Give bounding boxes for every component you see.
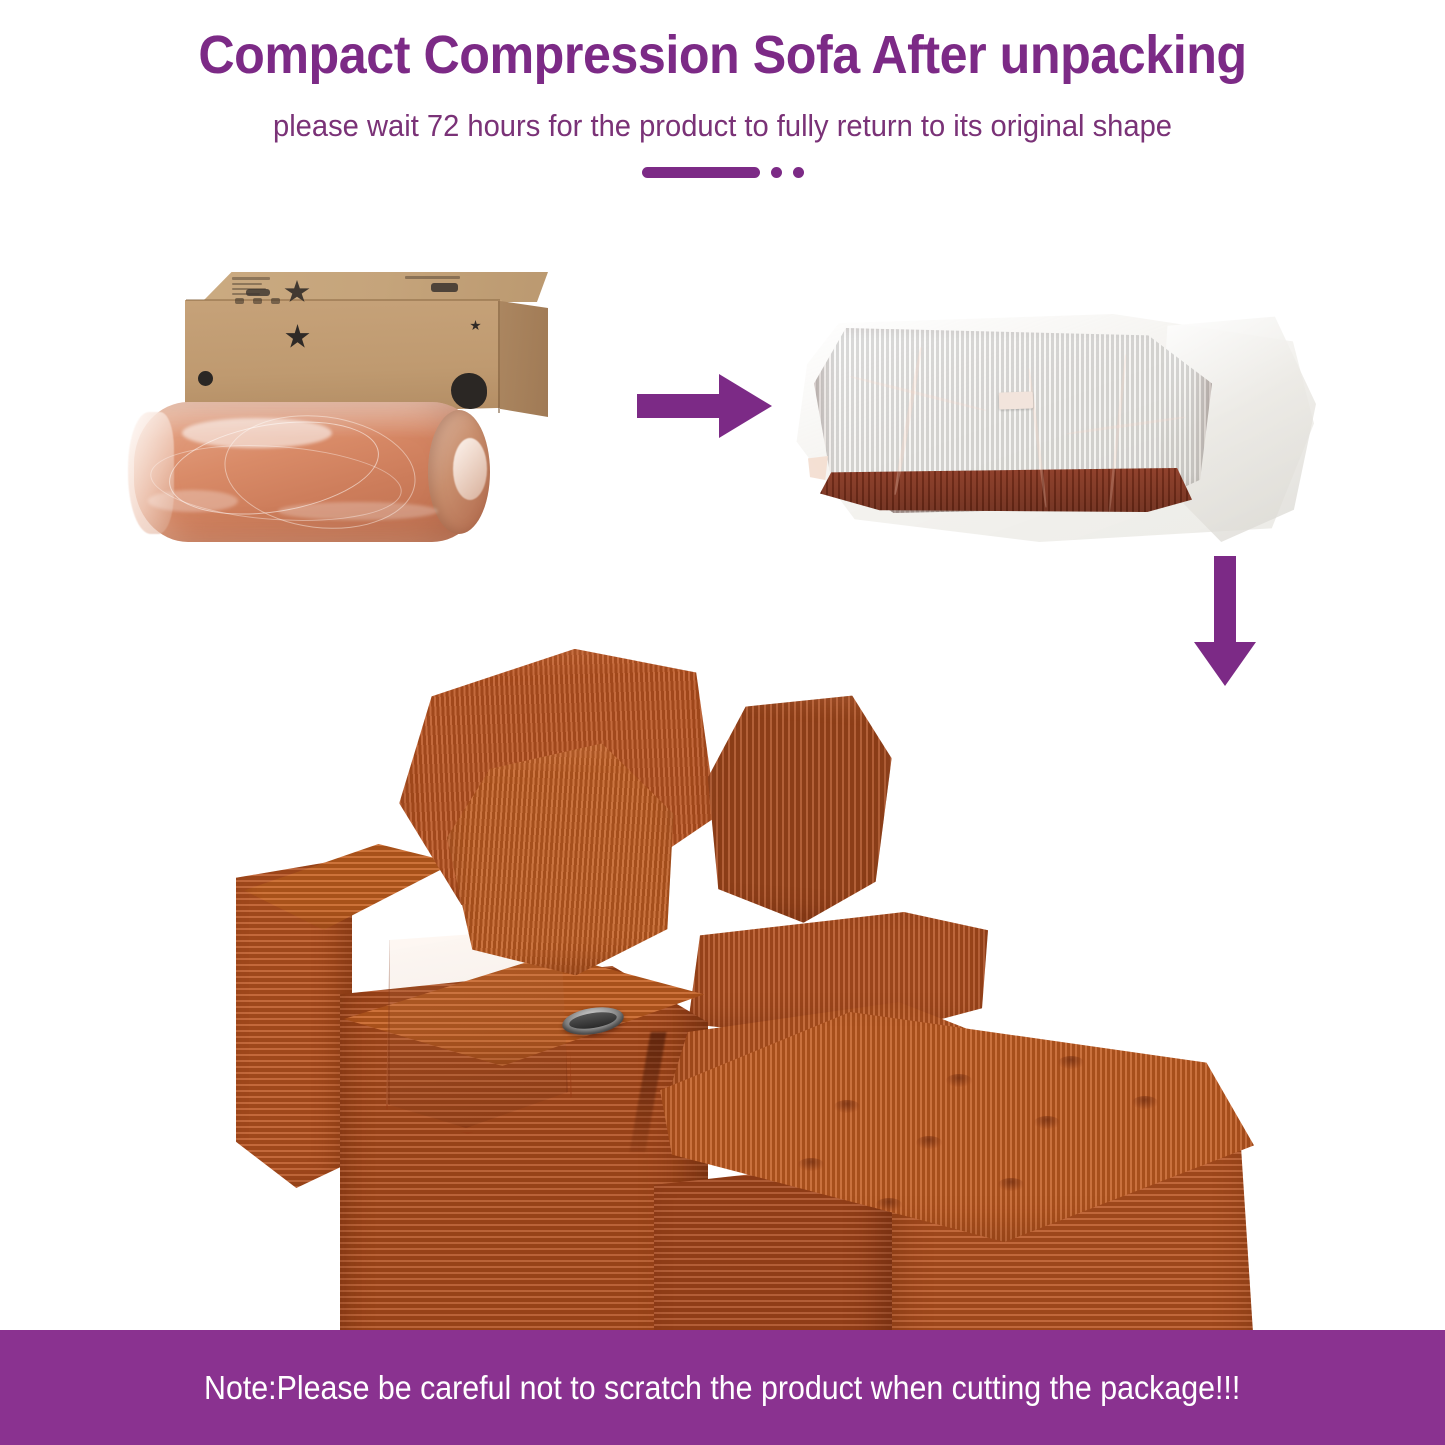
pack-corner-tag (808, 456, 828, 480)
carton-symbol-icon (253, 298, 262, 304)
carton-slot-cutout (431, 283, 458, 292)
carton-symbol-icon (271, 298, 280, 304)
infographic-page: Compact Compression Sofa After unpacking… (0, 0, 1445, 1445)
divider-dot-2 (793, 167, 804, 178)
warning-banner: Note:Please be careful not to scratch th… (0, 1330, 1445, 1445)
divider-bar (642, 167, 760, 178)
step-2-vacuum-packed-sofa (786, 306, 1316, 544)
carton-slot-cutout (246, 289, 270, 296)
tuft-button (916, 1136, 942, 1149)
pack-label (999, 391, 1034, 409)
compressed-sofa-front-edge (820, 468, 1192, 512)
tuft-button (1034, 1116, 1060, 1129)
tuft-button (1132, 1096, 1158, 1109)
carton-print-line (232, 283, 262, 285)
carton-symbol-icon (235, 298, 244, 304)
divider-dot-1 (771, 167, 782, 178)
carton-vent-hole (198, 371, 213, 386)
divider (0, 162, 1445, 182)
carton-origin-print (405, 276, 460, 279)
rolled-compressed-sofa (128, 394, 503, 554)
header: Compact Compression Sofa After unpacking… (0, 0, 1445, 200)
tuft-button (834, 1100, 860, 1113)
plastic-sheen (148, 490, 238, 512)
tuft-button (798, 1158, 824, 1171)
warning-note-text: Note:Please be careful not to scratch th… (204, 1369, 1240, 1407)
step-3-expanded-sofa (236, 636, 1266, 1256)
throw-pillow-right (698, 686, 896, 928)
right-arrow-icon (637, 372, 772, 440)
tuft-button (998, 1178, 1024, 1191)
carton-print-line (232, 277, 270, 280)
page-subtitle: please wait 72 hours for the product to … (43, 108, 1401, 144)
plastic-sheen (182, 418, 332, 448)
plastic-sheen (278, 502, 438, 520)
tuft-button (876, 1198, 902, 1211)
tuft-button (946, 1074, 972, 1087)
step-1-boxed-compressed-sofa (128, 272, 548, 562)
carton-fold-line (186, 299, 500, 301)
tuft-button (1058, 1056, 1084, 1069)
carton-side-face (500, 301, 548, 417)
roll-plastic-gather (453, 438, 487, 500)
page-title: Compact Compression Sofa After unpacking (51, 24, 1395, 86)
